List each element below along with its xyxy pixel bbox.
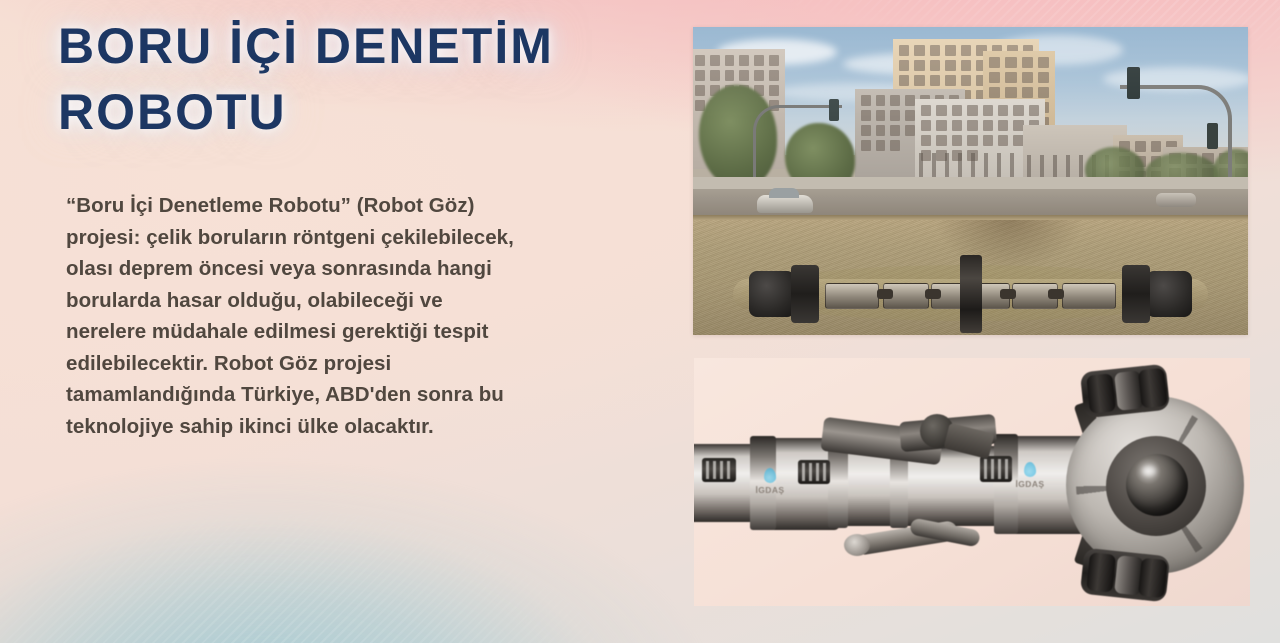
wheel: [1086, 373, 1116, 414]
water-drop-icon: [764, 468, 777, 483]
robot-joint: [925, 289, 941, 299]
manipulator-end-effector: [844, 534, 870, 556]
robot-clamp: [798, 460, 830, 484]
body-paragraph: “Boru İçi Denetleme Robotu” (Robot Göz) …: [66, 190, 614, 442]
robot-drive-hub: [1122, 265, 1150, 323]
wheel-pod: [1080, 548, 1170, 603]
igdas-logo-label: İGDAŞ: [1016, 479, 1045, 489]
wheel-pod: [1080, 364, 1170, 419]
clamp-ribs: [706, 461, 732, 479]
clamp-ribs: [984, 459, 1008, 479]
pipe-inspection-robot: İGDAŞ İGDAŞ: [694, 358, 1250, 606]
robot-end-cap: [749, 271, 795, 317]
traffic-light-icon: [1127, 67, 1140, 99]
igdas-logo: İGDAŞ: [1008, 462, 1052, 489]
robot-segment: [1062, 283, 1116, 309]
wheel: [1138, 558, 1168, 599]
presentation-slide: BORU İÇİ DENETİM ROBOTU “Boru İçi Denetl…: [0, 0, 1280, 643]
traffic-light-icon: [1207, 123, 1218, 149]
robot-closeup-image: İGDAŞ İGDAŞ: [694, 358, 1250, 606]
camera-lens-dome: [1126, 454, 1188, 516]
robot-segment: [825, 283, 879, 309]
trench-edge: [693, 215, 1248, 220]
street-excavation-image: [693, 27, 1248, 335]
igdas-logo: İGDAŞ: [748, 468, 792, 495]
robot-joint: [1048, 289, 1064, 299]
traffic-light-icon: [829, 99, 839, 121]
robot-clamp: [702, 458, 736, 482]
wheel: [1086, 552, 1116, 593]
car: [1156, 193, 1196, 207]
car: [757, 195, 813, 213]
robot-end-cap: [1146, 271, 1192, 317]
igdas-logo-label: İGDAŞ: [756, 485, 785, 495]
wheel: [1138, 368, 1168, 409]
robot-center-module: [960, 255, 982, 333]
robot-joint: [877, 289, 893, 299]
robot-drive-hub: [791, 265, 819, 323]
robot-joint: [1000, 289, 1016, 299]
clamp-ribs: [802, 463, 826, 481]
page-title: BORU İÇİ DENETİM ROBOTU: [58, 13, 648, 145]
water-drop-icon: [1024, 462, 1037, 477]
